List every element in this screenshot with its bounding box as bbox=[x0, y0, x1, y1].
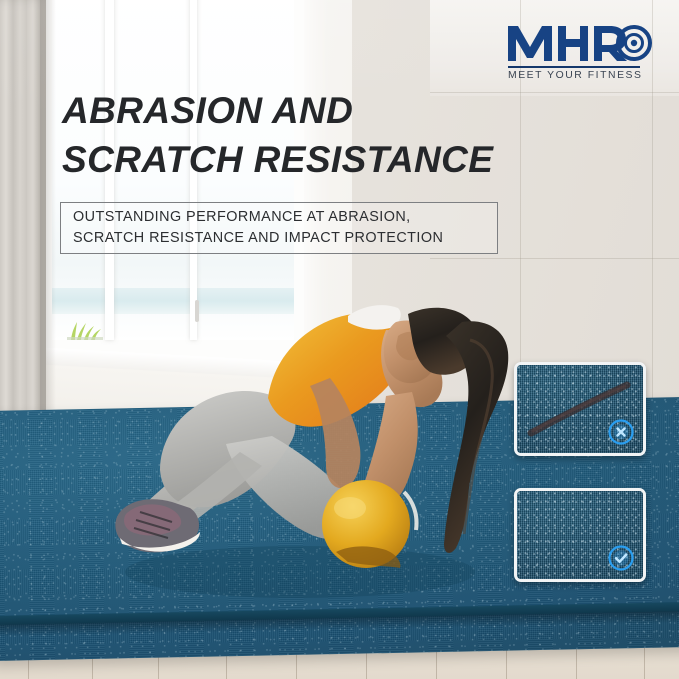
headline-line-1: ABRASION AND bbox=[62, 86, 532, 135]
subheading-box: OUTSTANDING PERFORMANCE AT ABRASION, SCR… bbox=[60, 202, 498, 254]
subheading-line-2: SCRATCH RESISTANCE AND IMPACT PROTECTION bbox=[73, 228, 497, 249]
window-handle bbox=[195, 300, 199, 322]
wall-tile-seam bbox=[430, 258, 679, 259]
curtain-shadow bbox=[40, 0, 56, 470]
product-feature-banner: MEET YOUR FITNESS ABRASION AND SCRATCH R… bbox=[0, 0, 679, 679]
logo-mark-icon bbox=[506, 21, 652, 65]
panel-scratched-sample[interactable] bbox=[514, 362, 646, 456]
subheading-line-1: OUTSTANDING PERFORMANCE AT ABRASION, bbox=[73, 207, 497, 228]
page-title: ABRASION AND SCRATCH RESISTANCE bbox=[62, 86, 532, 184]
check-circle-icon bbox=[607, 544, 635, 572]
plant-icon bbox=[65, 318, 105, 340]
logo-divider bbox=[508, 66, 640, 68]
logo-tagline: MEET YOUR FITNESS bbox=[508, 70, 654, 81]
headline-line-2: SCRATCH RESISTANCE bbox=[62, 135, 532, 184]
wall-tile-seam bbox=[652, 0, 653, 432]
window-sky-band bbox=[52, 288, 294, 314]
brand-logo[interactable]: MEET YOUR FITNESS bbox=[506, 21, 652, 83]
panel-intact-sample[interactable] bbox=[514, 488, 646, 582]
x-circle-icon bbox=[607, 418, 635, 446]
